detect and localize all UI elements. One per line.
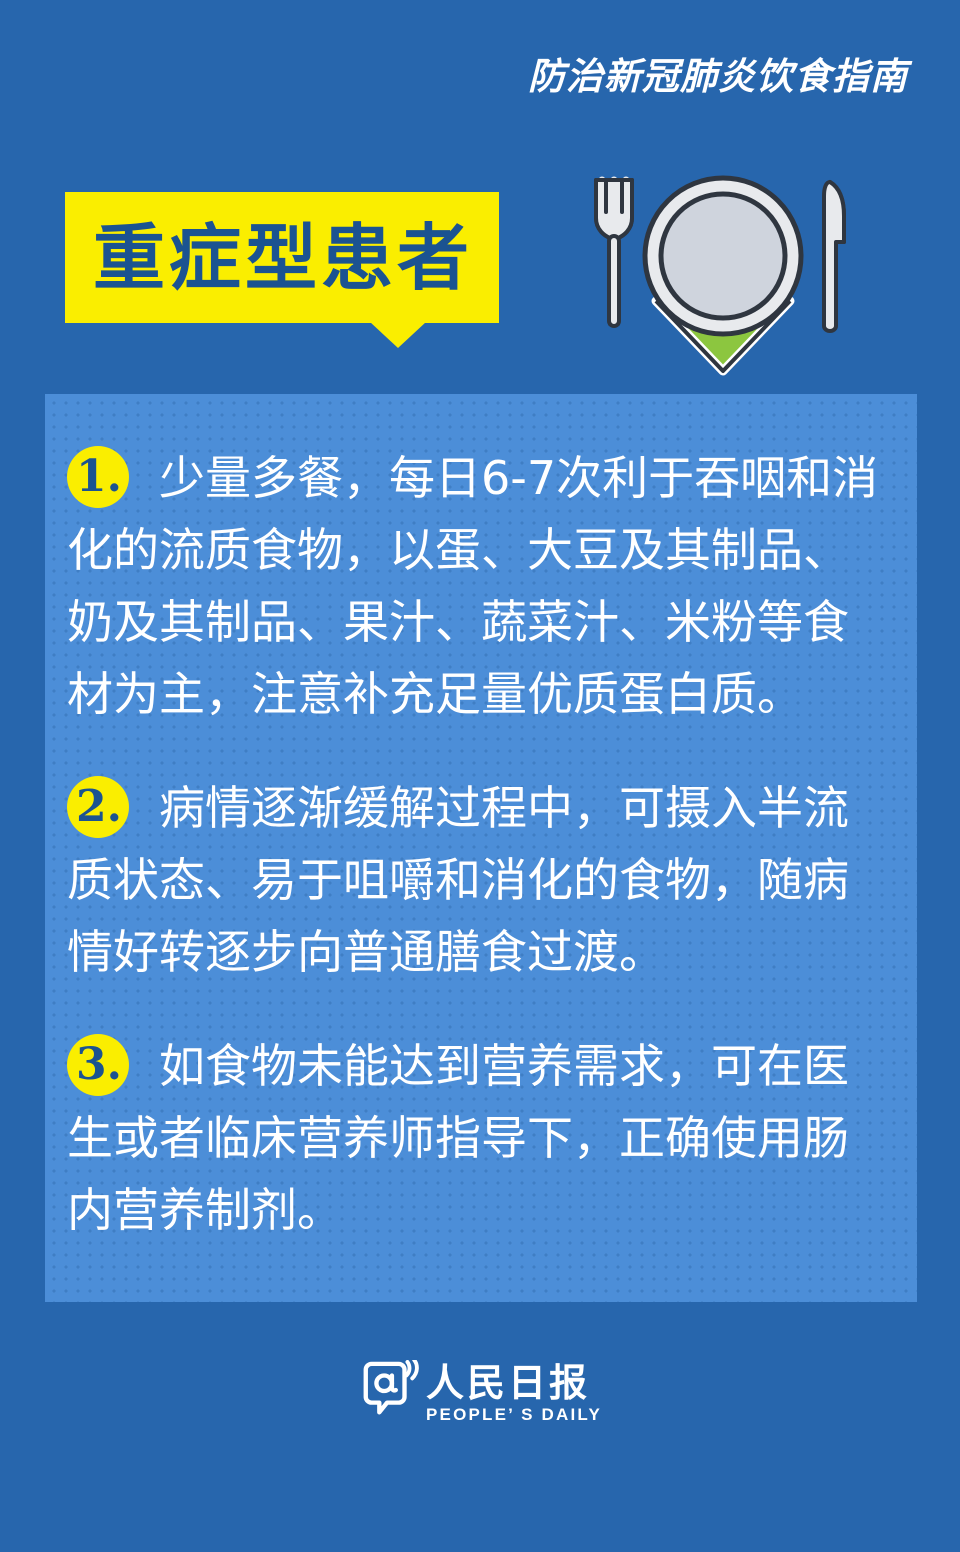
item-text: 病情逐渐缓解过程中，可摄入半流质状态、易于咀嚼和消化的食物，随病情好转逐步向普通… xyxy=(67,772,889,988)
page-header: 防治新冠肺炎饮食指南 xyxy=(0,0,960,150)
logo-chinese-name: 人民日报 xyxy=(426,1362,602,1404)
logo-english-name: PEOPLE’ S DAILY xyxy=(426,1405,602,1425)
list-item: 3. 如食物未能达到营养需求，可在医生或者临床营养师指导下，正确使用肠内营养制剂… xyxy=(45,1030,917,1246)
banner-title-text: 重症型患者 xyxy=(93,208,473,308)
at-sign-icon xyxy=(358,1360,420,1422)
list-item: 1. 少量多餐，每日6-7次利于吞咽和消化的流质食物，以蛋、大豆及其制品、奶及其… xyxy=(45,442,917,730)
page-footer: 人民日报 PEOPLE’ S DAILY xyxy=(0,1302,960,1552)
knife-icon xyxy=(824,182,844,331)
dining-set-icon xyxy=(578,166,868,386)
page-title: 防治新冠肺炎饮食指南 xyxy=(528,58,908,95)
item-text: 如食物未能达到营养需求，可在医生或者临床营养师指导下，正确使用肠内营养制剂。 xyxy=(67,1030,889,1246)
logo-text-block: 人民日报 PEOPLE’ S DAILY xyxy=(426,1360,602,1425)
item-number-badge: 2. xyxy=(67,776,129,838)
fork-icon xyxy=(596,180,632,326)
item-number-badge: 3. xyxy=(67,1034,129,1096)
advice-list: 1. 少量多餐，每日6-7次利于吞咽和消化的流质食物，以蛋、大豆及其制品、奶及其… xyxy=(45,394,917,1288)
content-panel: 1. 少量多餐，每日6-7次利于吞咽和消化的流质食物，以蛋、大豆及其制品、奶及其… xyxy=(45,394,917,1302)
banner-tail xyxy=(370,322,426,348)
plate-icon xyxy=(645,178,801,334)
item-text: 少量多餐，每日6-7次利于吞咽和消化的流质食物，以蛋、大豆及其制品、奶及其制品、… xyxy=(67,442,889,730)
item-number-badge: 1. xyxy=(67,446,129,508)
section-title-banner: 重症型患者 xyxy=(65,192,499,347)
peoples-daily-logo: 人民日报 PEOPLE’ S DAILY xyxy=(358,1360,602,1425)
list-item: 2. 病情逐渐缓解过程中，可摄入半流质状态、易于咀嚼和消化的食物，随病情好转逐步… xyxy=(45,772,917,988)
